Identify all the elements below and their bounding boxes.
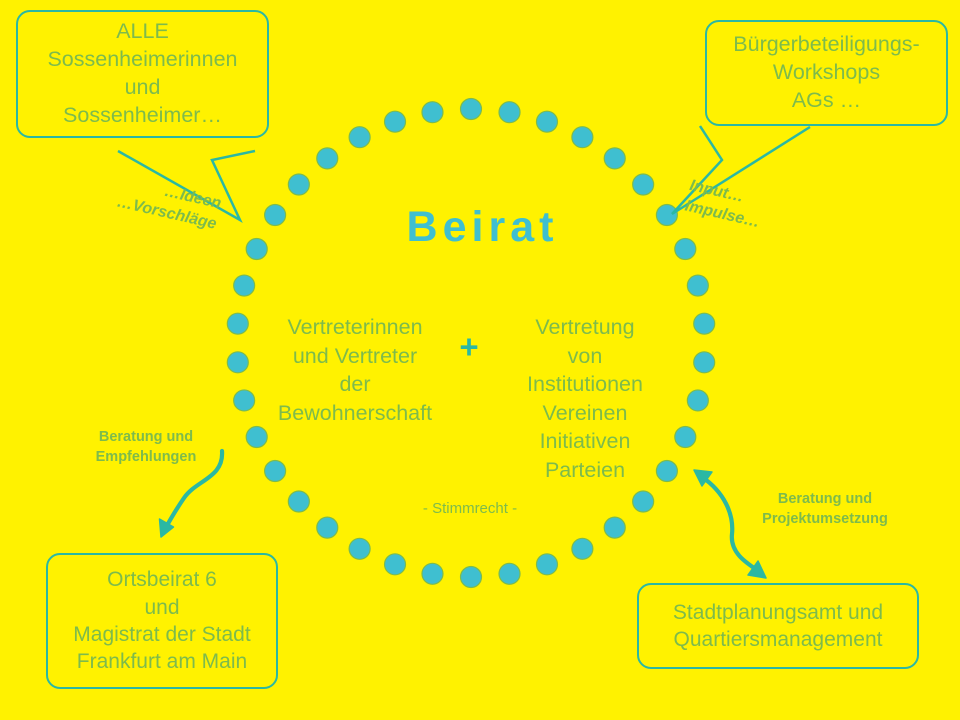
ring-dot — [422, 563, 443, 584]
pillar-line: und Vertreter — [263, 342, 447, 371]
pillar-line: Institutionen — [500, 370, 670, 399]
ring-dot — [499, 563, 520, 584]
callout-stadtplanungsamt-quartiersmanagement[interactable]: Stadtplanungsamt und Quartiersmanagement — [637, 583, 919, 669]
ring-dot — [349, 538, 370, 559]
diagram-canvas: ALLE Sossenheimerinnen und Sossenheimer…… — [0, 0, 960, 720]
label-line: Projektumsetzung — [745, 510, 905, 530]
label-line: Beratung und — [745, 490, 905, 510]
ring-dot — [604, 148, 625, 169]
ring-dot — [572, 127, 593, 148]
ring-dot — [572, 538, 593, 559]
ring-dot — [246, 427, 267, 448]
ring-dot — [687, 275, 708, 296]
pillar-line: der — [263, 370, 447, 399]
callout-line: Sossenheimer… — [63, 102, 222, 130]
ring-dot — [675, 427, 696, 448]
ring-dot — [422, 102, 443, 123]
callout-line: ALLE — [116, 18, 169, 46]
callout-line: Bürgerbeteiligungs- — [733, 31, 919, 59]
pillar-institutionen: Vertretung von Institutionen Vereinen In… — [500, 313, 670, 485]
callout-line: Quartiersmanagement — [674, 626, 883, 653]
pillar-line: Bewohnerschaft — [263, 399, 447, 428]
ring-dot — [499, 102, 520, 123]
ring-dot — [536, 554, 557, 575]
ring-dot — [349, 127, 370, 148]
callout-line: und — [125, 74, 161, 102]
pillar-line: Vereinen — [500, 399, 670, 428]
pillar-bewohnerschaft: Vertreterinnen und Vertreter der Bewohne… — [263, 313, 447, 427]
callout-line: Sossenheimerinnen — [47, 46, 237, 74]
callout-line: Frankfurt am Main — [77, 648, 247, 675]
ring-dot — [288, 174, 309, 195]
ring-dot — [288, 491, 309, 512]
pillar-line: von — [500, 342, 670, 371]
ring-dot — [227, 313, 248, 334]
callout-alle-sossenheimer[interactable]: ALLE Sossenheimerinnen und Sossenheimer… — [16, 10, 269, 138]
pillar-line: Parteien — [500, 456, 670, 485]
ring-dot — [317, 517, 338, 538]
pillar-line: Initiativen — [500, 427, 670, 456]
callout-line: Ortsbeirat 6 — [107, 566, 217, 593]
ring-dot — [694, 313, 715, 334]
ring-dot — [385, 554, 406, 575]
label-beratung-und-empfehlungen: Beratung und Empfehlungen — [78, 428, 214, 467]
callout-line: Magistrat der Stadt — [73, 621, 250, 648]
label-beratung-und-projektumsetzung: Beratung und Projektumsetzung — [745, 490, 905, 529]
pillar-line: Vertretung — [500, 313, 670, 342]
ring-dot — [461, 99, 482, 120]
ring-dot — [633, 491, 654, 512]
stimmrecht-note: - Stimmrecht - — [355, 500, 585, 517]
ring-dot — [633, 174, 654, 195]
ring-dot — [687, 390, 708, 411]
callout-line: AGs … — [792, 87, 861, 115]
arrowhead-projektumsetzung-up — [694, 470, 712, 486]
ring-dot — [461, 567, 482, 588]
ring-dot — [317, 148, 338, 169]
arrowhead-projektumsetzung-down — [748, 561, 766, 578]
callout-line: und — [144, 594, 179, 621]
ring-dot — [604, 517, 625, 538]
label-line: Beratung und — [78, 428, 214, 448]
pillar-line: Vertreterinnen — [263, 313, 447, 342]
ring-dot — [694, 352, 715, 373]
arrowhead-beratung-empfehlungen — [160, 519, 174, 537]
ring-dot — [227, 352, 248, 373]
ring-dot — [234, 275, 255, 296]
callout-line: Stadtplanungsamt und — [673, 599, 883, 626]
ring-dot — [234, 390, 255, 411]
ring-dot — [265, 460, 286, 481]
callout-ortsbeirat-magistrat[interactable]: Ortsbeirat 6 und Magistrat der Stadt Fra… — [46, 553, 278, 689]
label-line: Empfehlungen — [78, 448, 214, 468]
callout-line: Workshops — [773, 59, 880, 87]
ring-dot — [385, 111, 406, 132]
ring-dot — [536, 111, 557, 132]
callout-buergerbeteiligungs-workshops[interactable]: Bürgerbeteiligungs- Workshops AGs … — [705, 20, 948, 126]
plus-icon: + — [443, 330, 495, 363]
